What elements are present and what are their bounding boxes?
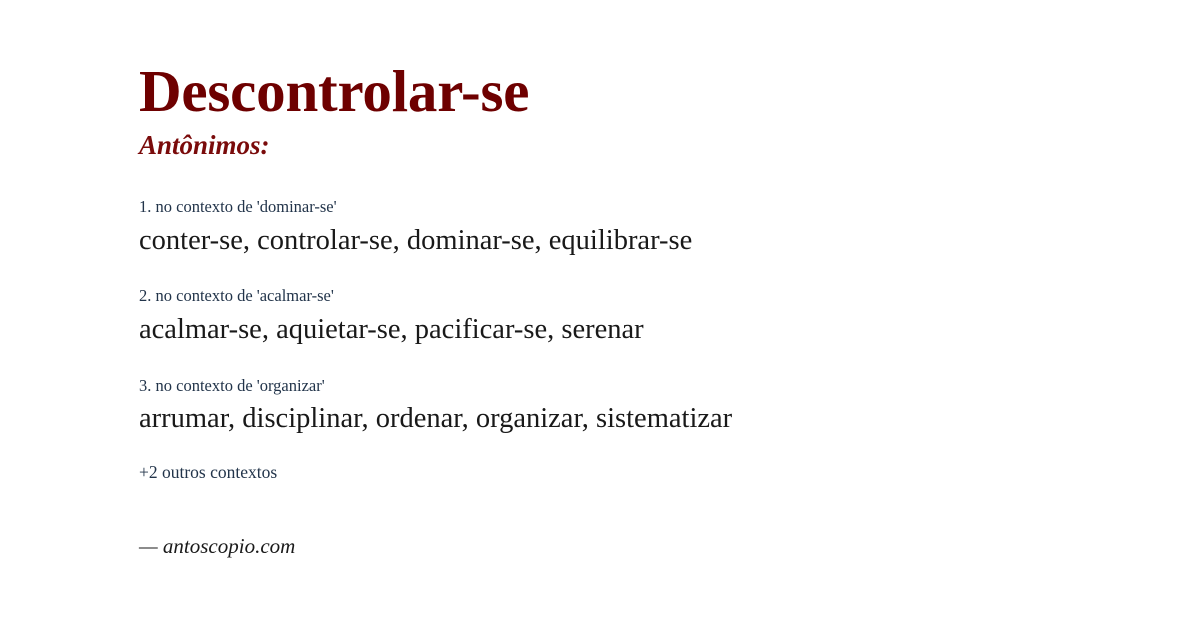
page-title: Descontrolar-se (139, 62, 529, 121)
sense-group: 2. no contexto de 'acalmar-se' acalmar-s… (139, 288, 1149, 344)
section-subtitle: Antônimos: (139, 132, 529, 159)
sense-group: 1. no contexto de 'dominar-se' conter-se… (139, 199, 1149, 255)
sense-antonym-list: conter-se, controlar-se, dominar-se, equ… (139, 226, 1149, 256)
sense-context-label: 1. no contexto de 'dominar-se' (139, 199, 1149, 216)
sense-antonym-list: arrumar, disciplinar, ordenar, organizar… (139, 404, 1149, 434)
sense-list: 1. no contexto de 'dominar-se' conter-se… (139, 199, 1149, 434)
sense-context-label: 3. no contexto de 'organizar' (139, 378, 1149, 395)
sense-antonym-list: acalmar-se, aquietar-se, pacificar-se, s… (139, 315, 1149, 345)
sense-group: 3. no contexto de 'organizar' arrumar, d… (139, 378, 1149, 434)
sense-context-label: 2. no contexto de 'acalmar-se' (139, 288, 1149, 305)
more-contexts-note: +2 outros contextos (139, 464, 277, 482)
antonym-card: Descontrolar-se Antônimos: 1. no context… (0, 0, 1200, 628)
card-header: Descontrolar-se Antônimos: (139, 62, 529, 159)
source-attribution: — antoscopio.com (139, 536, 295, 557)
